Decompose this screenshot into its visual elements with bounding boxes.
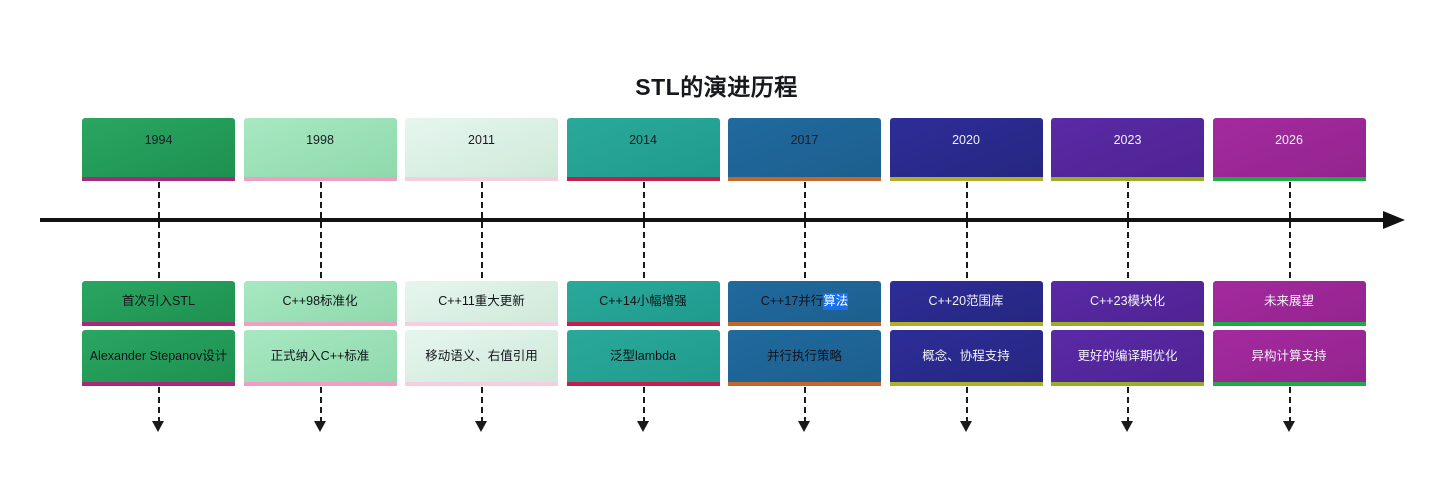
year-box-accent [82,177,235,181]
dashed-connector [1289,222,1291,278]
selected-text[interactable]: 算法 [823,293,848,310]
dashed-connector [643,387,645,423]
milestone-desc-card[interactable]: 正式纳入C++标准 [244,330,397,382]
year-box-accent [244,177,397,181]
milestone-title-accent [244,322,397,326]
dashed-connector [1127,387,1129,423]
year-box[interactable]: 2017 [728,118,881,177]
timeline-column: 2011C++11重大更新移动语义、右值引用 [405,0,558,500]
milestone-title-accent [405,322,558,326]
arrow-down-icon [152,421,164,432]
year-box-accent [728,177,881,181]
dashed-connector [966,182,968,218]
milestone-title-card[interactable]: C++14小幅增强 [567,281,720,322]
milestone-desc-accent [1051,382,1204,386]
dashed-connector [481,182,483,218]
dashed-connector [481,387,483,423]
timeline-column: 1994首次引入STLAlexander Stepanov设计 [82,0,235,500]
dashed-connector [158,387,160,423]
dashed-connector [1289,387,1291,423]
arrow-down-icon [475,421,487,432]
milestone-title-card[interactable]: 首次引入STL [82,281,235,322]
dashed-connector [804,387,806,423]
arrow-down-icon [798,421,810,432]
milestone-desc-accent [567,382,720,386]
year-box[interactable]: 2023 [1051,118,1204,177]
year-box-accent [405,177,558,181]
year-box-accent [1051,177,1204,181]
dashed-connector [1127,182,1129,218]
year-box[interactable]: 1994 [82,118,235,177]
milestone-title-card[interactable]: C++20范围库 [890,281,1043,322]
dashed-connector [320,222,322,278]
dashed-connector [158,182,160,218]
timeline-columns: 1994首次引入STLAlexander Stepanov设计1998C++98… [82,0,1367,500]
dashed-connector [804,182,806,218]
arrow-down-icon [637,421,649,432]
year-box-accent [567,177,720,181]
milestone-desc-card[interactable]: 泛型lambda [567,330,720,382]
dashed-connector [966,387,968,423]
timeline-column: 2014C++14小幅增强泛型lambda [567,0,720,500]
milestone-desc-accent [890,382,1043,386]
year-box[interactable]: 2020 [890,118,1043,177]
milestone-desc-accent [728,382,881,386]
milestone-title-card[interactable]: C++98标准化 [244,281,397,322]
year-box-accent [1213,177,1366,181]
arrow-down-icon [1121,421,1133,432]
timeline-column: 1998C++98标准化正式纳入C++标准 [244,0,397,500]
timeline-column: 2023C++23模块化更好的编译期优化 [1051,0,1204,500]
timeline-column: 2017C++17并行算法并行执行策略 [728,0,881,500]
milestone-title-card[interactable]: C++23模块化 [1051,281,1204,322]
milestone-title-accent [728,322,881,326]
milestone-desc-card[interactable]: 概念、协程支持 [890,330,1043,382]
arrow-down-icon [314,421,326,432]
year-box-accent [890,177,1043,181]
milestone-title-accent [82,322,235,326]
timeline-column: 2026未来展望异构计算支持 [1213,0,1366,500]
dashed-connector [804,222,806,278]
milestone-desc-card[interactable]: 异构计算支持 [1213,330,1366,382]
milestone-title-accent [1051,322,1204,326]
dashed-connector [1127,222,1129,278]
dashed-connector [966,222,968,278]
dashed-connector [481,222,483,278]
milestone-desc-card[interactable]: 并行执行策略 [728,330,881,382]
milestone-desc-accent [82,382,235,386]
milestone-desc-card[interactable]: 更好的编译期优化 [1051,330,1204,382]
dashed-connector [320,387,322,423]
dashed-connector [1289,182,1291,218]
milestone-desc-card[interactable]: Alexander Stepanov设计 [82,330,235,382]
year-box[interactable]: 2026 [1213,118,1366,177]
arrow-down-icon [1283,421,1295,432]
milestone-title-accent [890,322,1043,326]
dashed-connector [320,182,322,218]
milestone-desc-card[interactable]: 移动语义、右值引用 [405,330,558,382]
milestone-title-card[interactable]: 未来展望 [1213,281,1366,322]
year-box[interactable]: 2014 [567,118,720,177]
dashed-connector [643,182,645,218]
milestone-desc-accent [1213,382,1366,386]
year-box[interactable]: 2011 [405,118,558,177]
arrow-down-icon [960,421,972,432]
milestone-title-card[interactable]: C++17并行算法 [728,281,881,322]
milestone-desc-accent [244,382,397,386]
milestone-title-accent [567,322,720,326]
dashed-connector [643,222,645,278]
arrow-right-icon [1383,211,1405,229]
year-box[interactable]: 1998 [244,118,397,177]
milestone-title-card[interactable]: C++11重大更新 [405,281,558,322]
milestone-title-accent [1213,322,1366,326]
milestone-desc-accent [405,382,558,386]
dashed-connector [158,222,160,278]
timeline-column: 2020C++20范围库概念、协程支持 [890,0,1043,500]
